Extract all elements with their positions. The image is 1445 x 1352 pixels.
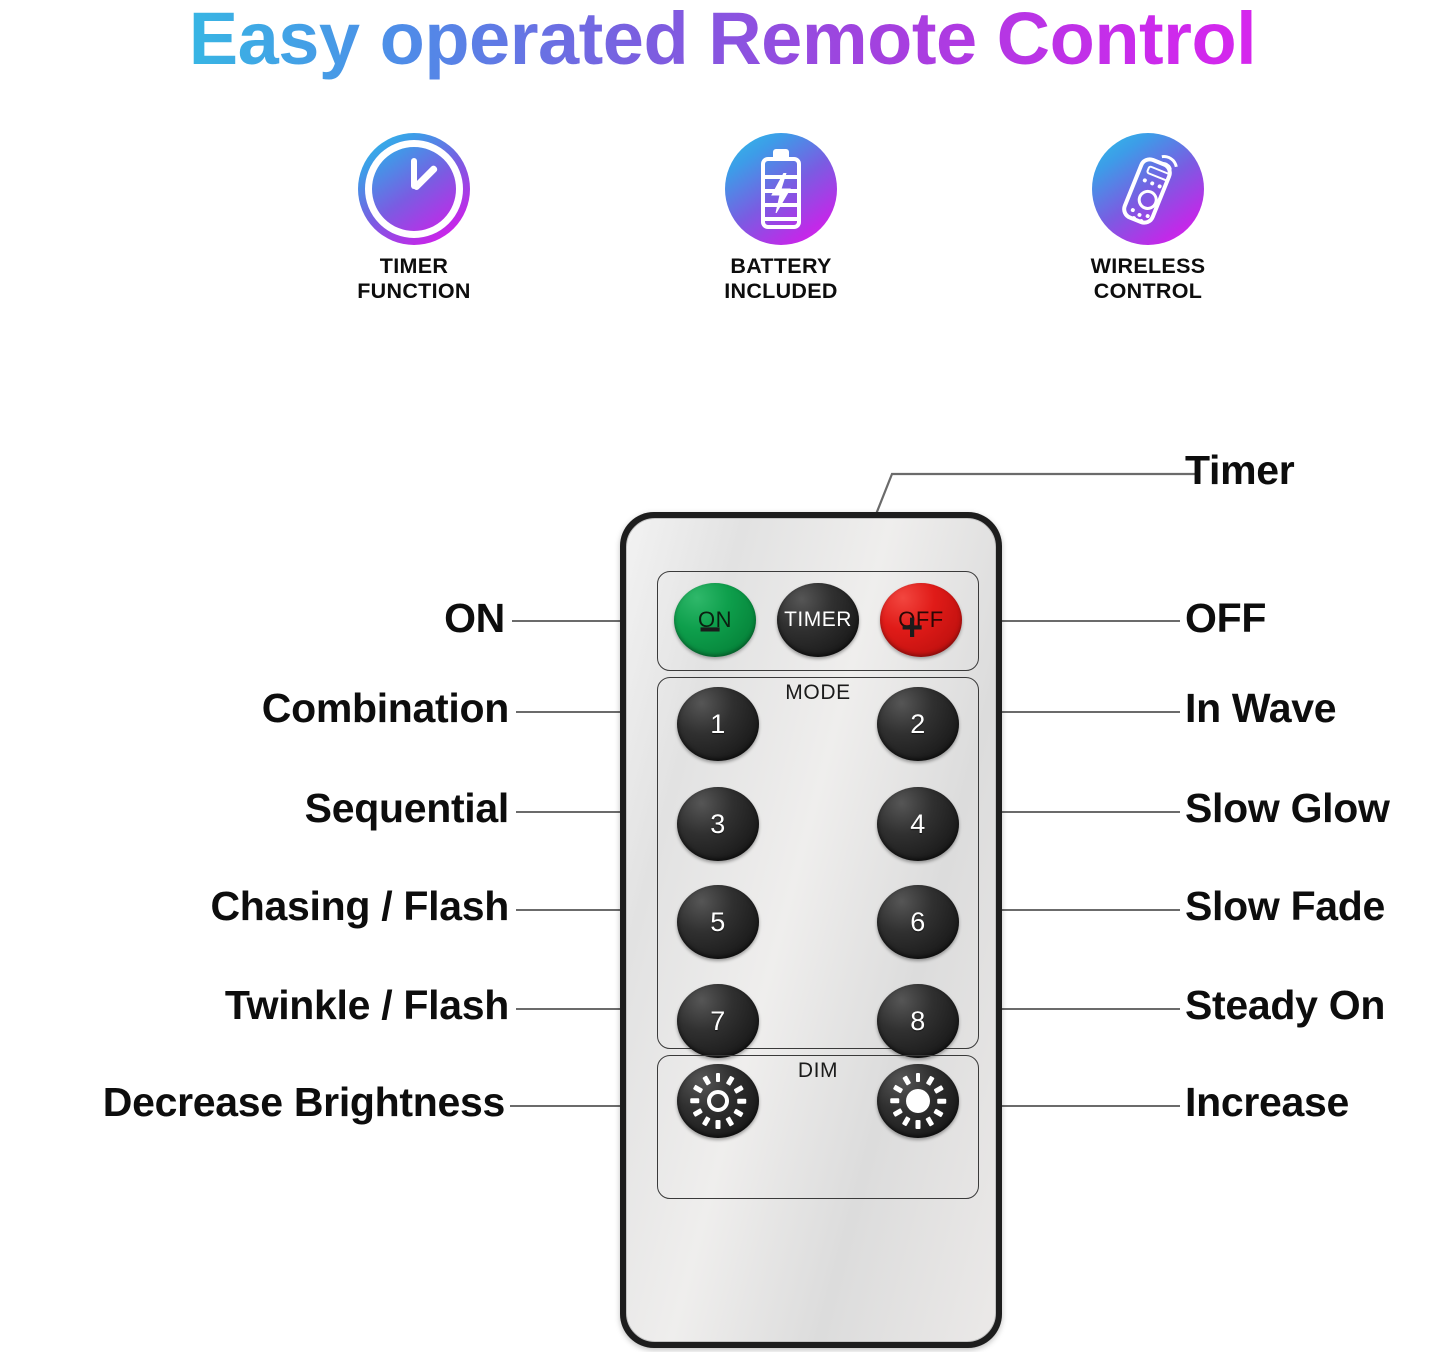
callout-twinkle-flash: Twinkle / Flash [0,985,509,1026]
callout-combination: Combination [0,688,509,729]
mode-button-7[interactable]: 7 [677,984,759,1058]
callout-off: OFF [1185,598,1266,639]
mode-button-3[interactable]: 3 [677,787,759,861]
mode-button-label: 4 [910,809,926,840]
dim-minus-label: − [699,611,721,649]
battery-icon [725,133,837,245]
callout-slow-glow: Slow Glow [1185,788,1390,829]
remote-control: ON TIMER OFF MODE 1 2 3 4 5 6 7 8 [620,512,1002,1348]
mode-button-label: 6 [910,907,926,938]
dim-decrease-button[interactable] [677,1064,759,1138]
page-title: Easy operated Remote Control [0,0,1445,81]
feature-caption: BATTERY INCLUDED [666,254,896,304]
mode-button-label: 5 [710,907,726,938]
feature-caption: TIMER FUNCTION [299,254,529,304]
callout-sequential: Sequential [0,788,509,829]
remote-screen [1146,165,1172,182]
clock-icon [358,133,470,245]
mode-button-label: 8 [910,1006,926,1037]
remote-outline-icon [1119,154,1175,228]
callout-steady-on: Steady On [1185,985,1385,1026]
remote-signal-icon [1092,133,1204,245]
mode-button-6[interactable]: 6 [877,885,959,959]
remote-faceplate: ON TIMER OFF MODE 1 2 3 4 5 6 7 8 [626,518,996,1342]
callout-on: ON [0,598,505,639]
feature-timer-function: TIMER FUNCTION [299,133,529,304]
feature-caption: WIRELESS CONTROL [1033,254,1263,304]
mode-button-8[interactable]: 8 [877,984,959,1058]
callout-timer: Timer [1185,450,1294,491]
mode-button-5[interactable]: 5 [677,885,759,959]
mode-button-label: 3 [710,809,726,840]
mode-button-4[interactable]: 4 [877,787,959,861]
timer-button-label: TIMER [784,608,852,632]
feature-battery-included: BATTERY INCLUDED [666,133,896,304]
dim-increase-button[interactable] [877,1064,959,1138]
feature-wireless-control: WIRELESS CONTROL [1033,133,1263,304]
brightness-low-icon [690,1073,746,1129]
mode-button-label: 2 [910,709,926,740]
callout-increase: Increase [1185,1082,1349,1123]
remote-center-button [1135,187,1161,213]
mode-button-2[interactable]: 2 [877,687,959,761]
callout-chasing-flash: Chasing / Flash [0,886,509,927]
callout-decrease-brightness: Decrease Brightness [0,1082,505,1123]
callout-slow-fade: Slow Fade [1185,886,1385,927]
mode-button-label: 7 [710,1006,726,1037]
brightness-high-icon [890,1073,946,1129]
dim-plus-label: + [901,609,923,647]
timer-button[interactable]: TIMER [777,583,859,657]
lightning-bolt-icon [769,173,793,213]
battery-level-bar [765,217,797,221]
mode-button-label: 1 [710,709,726,740]
callout-in-wave: In Wave [1185,688,1336,729]
mode-button-1[interactable]: 1 [677,687,759,761]
